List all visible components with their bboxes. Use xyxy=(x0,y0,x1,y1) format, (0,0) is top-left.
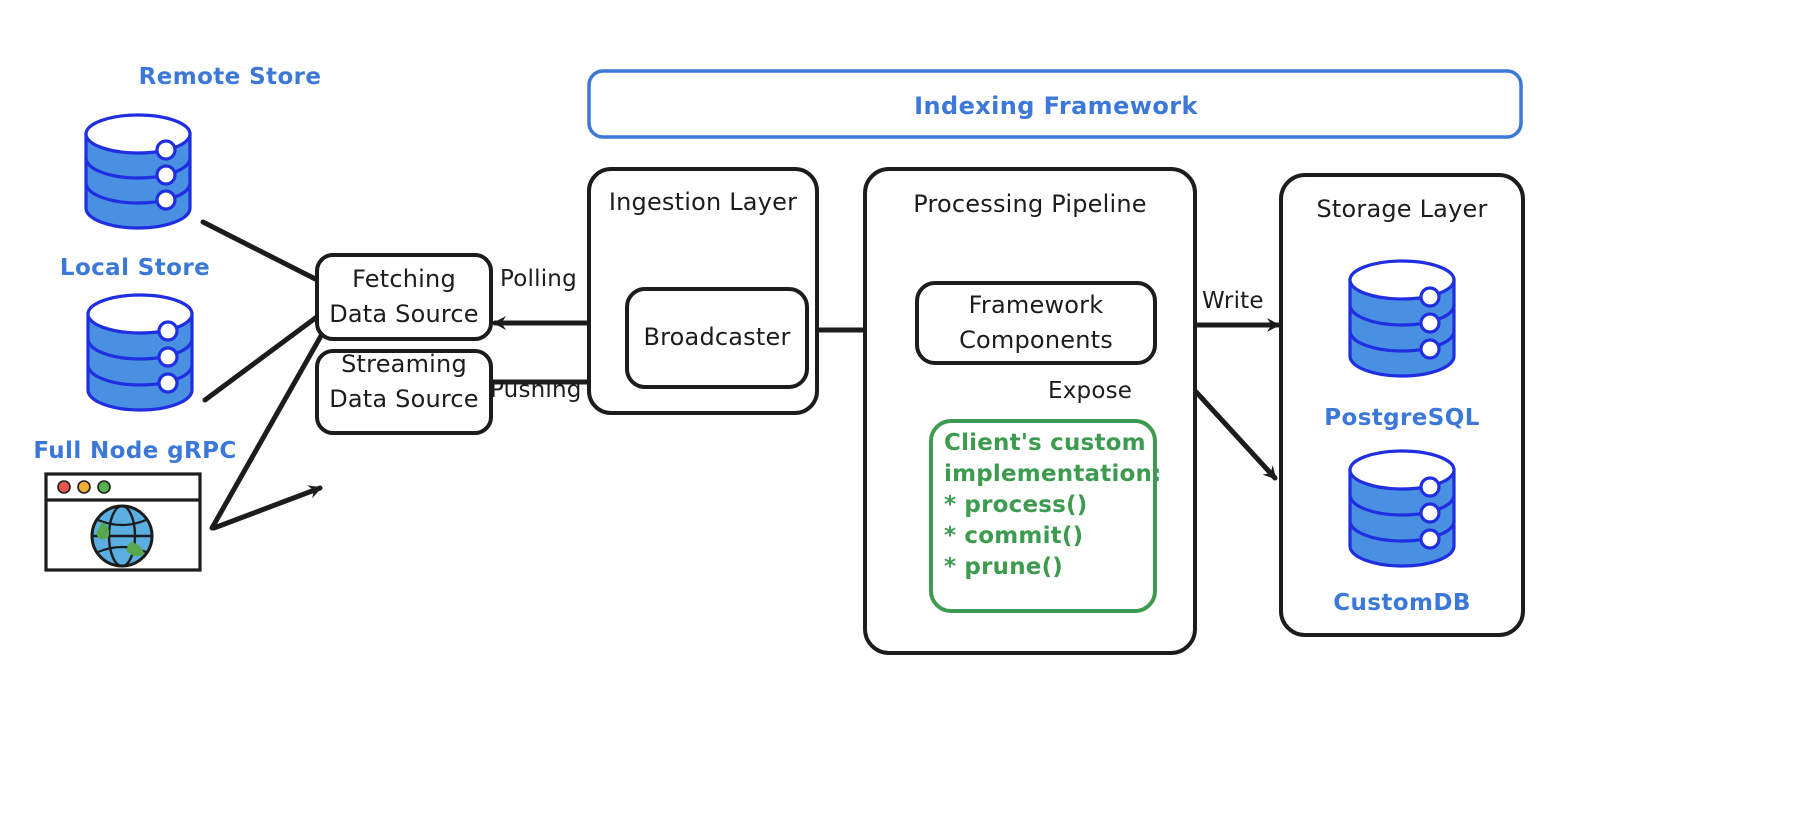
pushing-edge-label: Pushing xyxy=(490,377,582,403)
customdb-label: CustomDB xyxy=(1278,590,1526,616)
broadcaster-label: Broadcaster xyxy=(624,320,810,355)
client-custom-implementation-label: Client's customimplementation:* process(… xyxy=(944,428,1154,583)
full-node-grpc-label: Full Node gRPC xyxy=(10,438,260,464)
browser-dot-red xyxy=(58,481,70,493)
globe-icon xyxy=(92,506,152,566)
postgresql-label: PostgreSQL xyxy=(1278,405,1526,431)
write-edge-label: Write xyxy=(1202,288,1264,314)
framework-components-label: FrameworkComponents xyxy=(914,288,1158,358)
local-store-database-icon xyxy=(80,290,200,416)
postgresql-database-icon xyxy=(1342,256,1462,382)
remote-store-database-icon xyxy=(78,110,198,232)
processing-pipeline-title: Processing Pipeline xyxy=(862,190,1198,218)
remote-store-label: Remote Store xyxy=(105,64,355,90)
polling-edge-label: Polling xyxy=(500,266,577,292)
browser-dot-yellow xyxy=(78,481,90,493)
indexing-framework-label: Indexing Framework xyxy=(586,92,1526,120)
streaming-data-source-label: StreamingData Source xyxy=(314,347,494,417)
customdb-database-icon xyxy=(1342,446,1462,572)
browser-dot-green xyxy=(98,481,110,493)
local-store-label: Local Store xyxy=(20,255,250,281)
diagram-canvas: Indexing Framework Remote Store Local St… xyxy=(0,0,1796,818)
fetching-data-source-label: FetchingData Source xyxy=(314,262,494,332)
ingestion-layer-title: Ingestion Layer xyxy=(586,188,820,216)
storage-layer-title: Storage Layer xyxy=(1278,195,1526,223)
expose-edge-label: Expose xyxy=(1048,378,1132,404)
full-node-browser-window-icon xyxy=(44,472,202,572)
